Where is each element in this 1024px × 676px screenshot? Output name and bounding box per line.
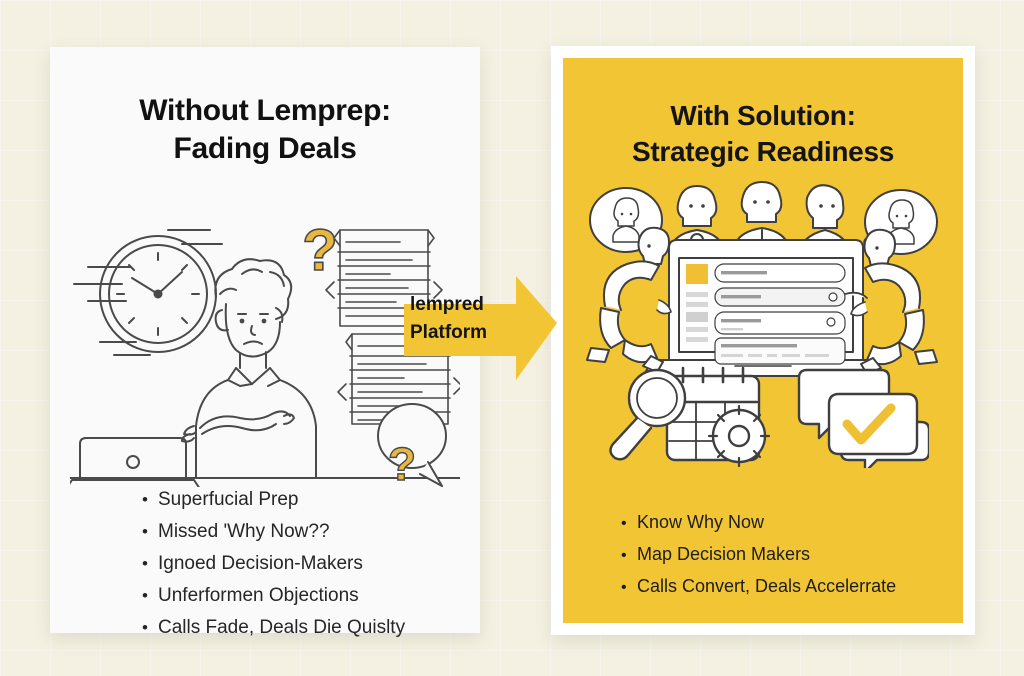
speech-bubble-question-glyph: ? (388, 438, 416, 487)
list-item: • Ignoed Decision-Makers (142, 554, 482, 575)
team-collaboration-illustration (583, 178, 945, 378)
bullet-marker: • (142, 491, 158, 510)
arrow-label-line-2: Platform (410, 319, 522, 347)
question-mark-glyph: ? (302, 222, 337, 283)
list-item-label: Map Decision Makers (637, 545, 810, 565)
arrow-label-line-1: lempred (410, 291, 522, 319)
transition-arrow: lempred Platform (396, 270, 562, 390)
solution-icons-row (599, 358, 929, 468)
list-item-label: Know Why Now (637, 513, 764, 533)
bullet-marker: • (142, 587, 158, 606)
list-item: • Calls Convert, Deals Accelerrate (621, 577, 971, 597)
arrow-label: lempred Platform (410, 291, 522, 346)
left-title-line-1: Without Lemprep: (50, 92, 480, 130)
solution-panel: With Solution: Strategic Readiness (563, 58, 963, 623)
bullet-marker: • (621, 579, 637, 597)
solution-bullet-list: • Know Why Now • Map Decision Makers • C… (621, 513, 971, 608)
list-item-label: Ignoed Decision-Makers (158, 554, 363, 575)
bullet-marker: • (621, 515, 637, 533)
right-title-line-1: With Solution: (563, 98, 963, 134)
problem-bullet-list: • Superfucial Prep • Missed 'Why Now?? •… (142, 490, 482, 649)
bullet-marker: • (142, 523, 158, 542)
list-item: • Know Why Now (621, 513, 971, 533)
list-item: • Unferformen Objections (142, 586, 482, 607)
list-item-label: Calls Fade, Deals Die Quislty (158, 618, 405, 639)
bullet-marker: • (142, 619, 158, 638)
solution-card: With Solution: Strategic Readiness (551, 46, 975, 635)
left-card-title: Without Lemprep: Fading Deals (50, 92, 480, 169)
list-item: • Missed 'Why Now?? (142, 522, 482, 543)
list-item-label: Missed 'Why Now?? (158, 522, 330, 543)
list-item-label: Calls Convert, Deals Accelerrate (637, 577, 896, 597)
list-item-label: Unferformen Objections (158, 586, 359, 607)
list-item: • Map Decision Makers (621, 545, 971, 565)
right-card-title: With Solution: Strategic Readiness (563, 98, 963, 171)
bullet-marker: • (142, 555, 158, 574)
list-item: • Superfucial Prep (142, 490, 482, 511)
right-title-line-2: Strategic Readiness (563, 134, 963, 170)
list-item-label: Superfucial Prep (158, 490, 298, 511)
list-item: • Calls Fade, Deals Die Quislty (142, 618, 482, 639)
left-title-line-2: Fading Deals (50, 130, 480, 168)
bullet-marker: • (621, 547, 637, 565)
